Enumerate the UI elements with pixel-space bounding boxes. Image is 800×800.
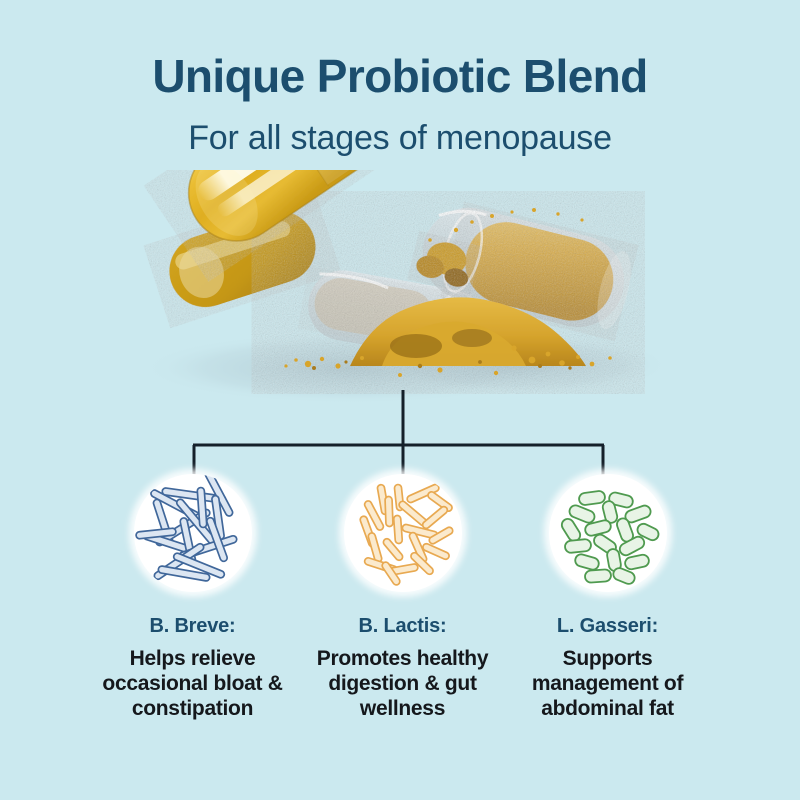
species-name-gasseri: L. Gasseri:: [505, 615, 710, 637]
strain-illustration-gasseri: [549, 474, 667, 592]
header: Unique Probiotic Blend For all stages of…: [0, 0, 800, 155]
species-card-breve: B. Breve: Helps relieve occasional bloat…: [90, 470, 295, 721]
rod-bacteria-blue-icon: [134, 474, 252, 592]
strain-illustration-lactis: [344, 474, 462, 592]
disc-wrap-breve: [90, 470, 295, 595]
disc-wrap-gasseri: [505, 470, 710, 595]
page-title: Unique Probiotic Blend: [0, 53, 800, 99]
species-name-lactis: B. Lactis:: [300, 615, 505, 637]
rod-bacteria-orange-icon: [344, 474, 462, 592]
infographic-canvas: Unique Probiotic Blend For all stages of…: [0, 0, 800, 800]
species-name-breve: B. Breve:: [90, 615, 295, 637]
strain-illustration-breve: [134, 474, 252, 592]
species-description-gasseri: Supports management of abdominal fat: [505, 646, 710, 721]
species-description-breve: Helps relieve occasional bloat & constip…: [90, 646, 295, 721]
species-card-gasseri: L. Gasseri: Supports management of abdom…: [505, 470, 710, 721]
capsule-bacteria-green-icon: [549, 474, 667, 592]
species-description-lactis: Promotes healthy digestion & gut wellnes…: [300, 646, 505, 721]
disc-wrap-lactis: [300, 470, 505, 595]
page-subtitle: For all stages of menopause: [0, 121, 800, 155]
product-photo: [100, 170, 700, 420]
species-card-lactis: B. Lactis: Promotes healthy digestion & …: [300, 470, 505, 721]
species-row: B. Breve: Helps relieve occasional bloat…: [0, 470, 800, 721]
